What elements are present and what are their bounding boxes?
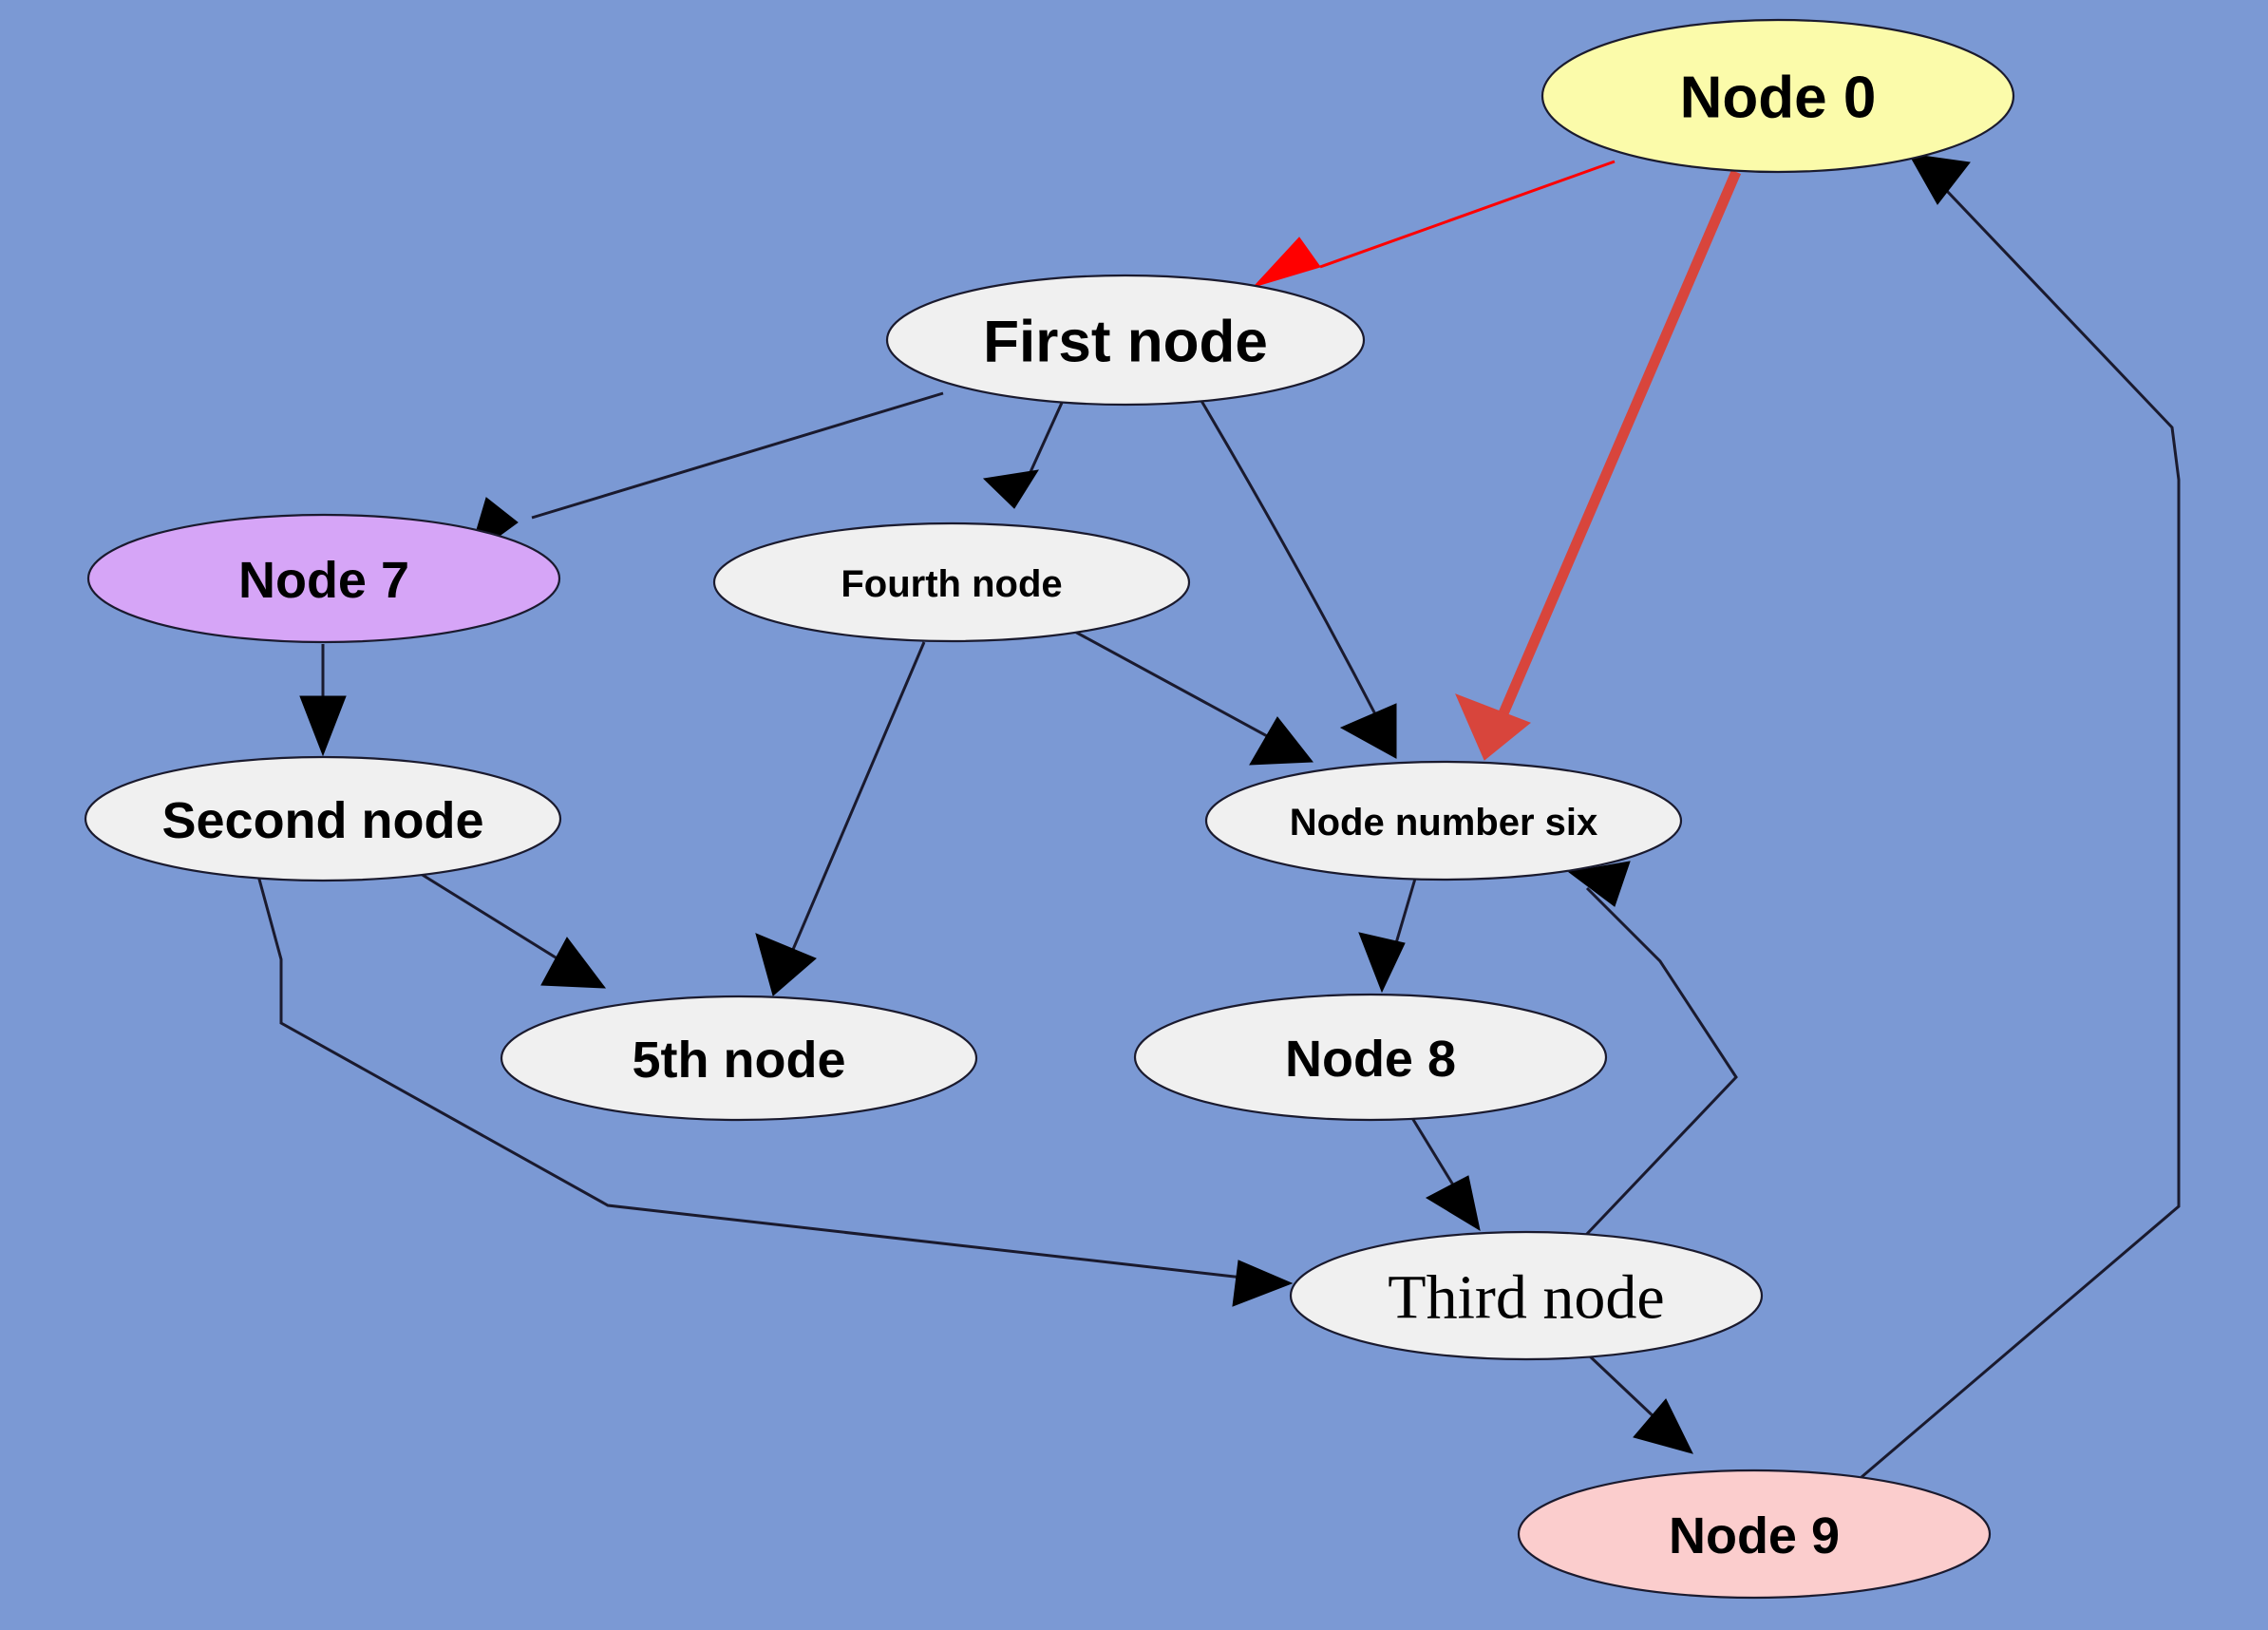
graph-node[interactable]: First node	[887, 275, 1364, 405]
graph-edge[interactable]	[1862, 154, 2179, 1477]
edge-arrowhead-icon	[1909, 154, 1970, 204]
graph-node[interactable]: Node 0	[1542, 20, 2013, 172]
node-label: First node	[983, 310, 1268, 375]
edge-line	[784, 642, 924, 972]
graph-node[interactable]: Second node	[85, 757, 560, 881]
nodes-layer: Node 0First nodeNode 7Fourth nodeSecond …	[85, 20, 2013, 1598]
edge-arrowhead-icon	[1233, 1260, 1292, 1306]
graph-edge[interactable]	[1073, 631, 1313, 765]
graph-node[interactable]: Node 9	[1519, 1470, 1990, 1598]
node-label: Fourth node	[841, 563, 1062, 605]
edge-arrowhead-icon	[541, 938, 605, 988]
edge-line	[1862, 170, 2179, 1477]
node-label: Node number six	[1290, 802, 1598, 843]
edge-arrowhead-icon	[1341, 704, 1396, 758]
node-label: Node 0	[1680, 66, 1877, 131]
graph-canvas: Node 0First nodeNode 7Fourth nodeSecond …	[0, 0, 2268, 1630]
edge-arrowhead-icon	[1456, 694, 1530, 760]
graph-svg: Node 0First nodeNode 7Fourth nodeSecond …	[0, 0, 2268, 1630]
graph-node[interactable]: Fourth node	[714, 523, 1189, 641]
graph-edge[interactable]	[300, 644, 346, 755]
graph-edge[interactable]	[413, 869, 605, 988]
edge-arrowhead-icon	[300, 696, 346, 755]
graph-edge[interactable]	[984, 403, 1062, 508]
graph-node[interactable]: 5th node	[501, 996, 976, 1120]
edge-line	[1201, 401, 1387, 736]
edge-arrowhead-icon	[1359, 933, 1405, 992]
node-label: Node 7	[238, 552, 409, 609]
graph-edge[interactable]	[756, 642, 924, 995]
node-label: Node 9	[1669, 1507, 1840, 1564]
edge-arrowhead-icon	[1427, 1176, 1480, 1230]
graph-edge[interactable]	[1456, 172, 1736, 760]
graph-node[interactable]: Node 8	[1135, 995, 1606, 1120]
graph-edge[interactable]	[1412, 1118, 1480, 1230]
node-label: Third node	[1388, 1263, 1664, 1333]
edge-arrowhead-icon	[984, 470, 1038, 508]
graph-node[interactable]: Node number six	[1206, 762, 1681, 880]
edge-line	[1073, 631, 1292, 749]
edge-arrowhead-icon	[1250, 717, 1313, 765]
edge-arrowhead-icon	[1254, 237, 1320, 287]
graph-edge[interactable]	[1588, 1355, 1692, 1453]
graph-edge[interactable]	[1254, 161, 1615, 287]
node-label: Second node	[161, 792, 483, 849]
edge-arrowhead-icon	[756, 934, 816, 995]
node-label: Node 8	[1285, 1031, 1456, 1088]
edge-line	[1495, 172, 1736, 733]
graph-node[interactable]: Third node	[1291, 1232, 1762, 1359]
edge-line	[1586, 888, 1736, 1235]
graph-edge[interactable]	[1201, 401, 1396, 758]
edge-line	[532, 393, 943, 518]
graph-node[interactable]: Node 7	[88, 515, 559, 642]
graph-edge[interactable]	[1359, 879, 1415, 992]
edge-line	[1320, 161, 1615, 267]
node-label: 5th node	[633, 1032, 846, 1089]
